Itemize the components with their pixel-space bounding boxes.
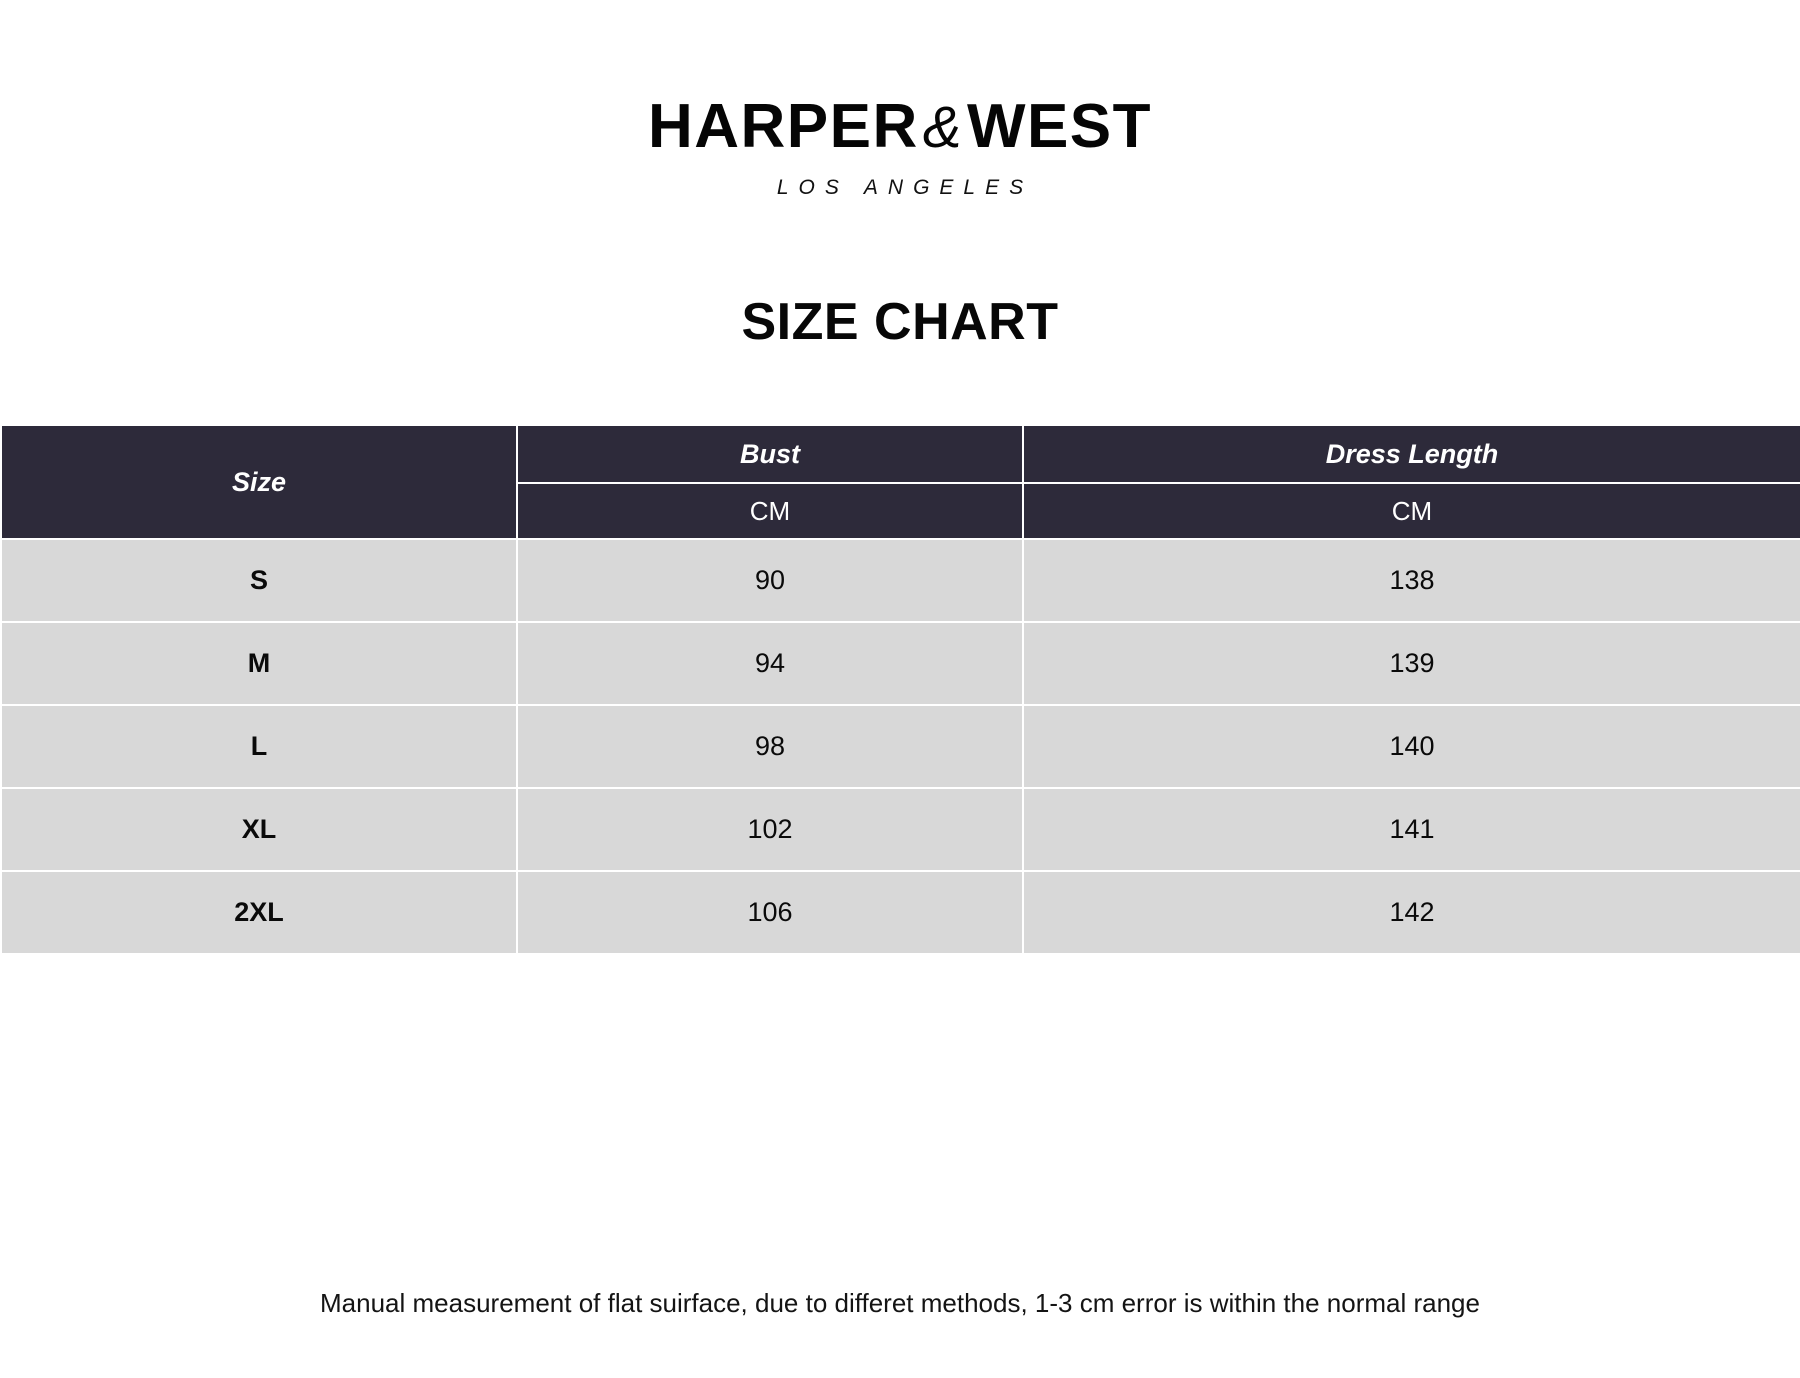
table-header-row-group: Size Bust Dress Length xyxy=(1,425,1800,483)
column-unit-bust: CM xyxy=(517,483,1023,539)
column-unit-dress-length: CM xyxy=(1023,483,1800,539)
cell-dress-length: 138 xyxy=(1023,539,1800,622)
cell-size: XL xyxy=(1,788,517,871)
cell-dress-length: 141 xyxy=(1023,788,1800,871)
cell-bust: 90 xyxy=(517,539,1023,622)
cell-size: S xyxy=(1,539,517,622)
cell-dress-length: 140 xyxy=(1023,705,1800,788)
table-row: 2XL 106 142 xyxy=(1,871,1800,954)
table-row: L 98 140 xyxy=(1,705,1800,788)
cell-bust: 102 xyxy=(517,788,1023,871)
size-chart-table-wrapper: Size Bust Dress Length CM CM S 90 138 M … xyxy=(0,424,1800,955)
cell-size: 2XL xyxy=(1,871,517,954)
cell-bust: 106 xyxy=(517,871,1023,954)
cell-size: M xyxy=(1,622,517,705)
brand-name: HARPER&WEST xyxy=(0,96,1800,158)
cell-bust: 94 xyxy=(517,622,1023,705)
brand-header: HARPER&WEST LOS ANGELES xyxy=(0,0,1800,200)
brand-tagline: LOS ANGELES xyxy=(0,176,1800,200)
page-title: SIZE CHART xyxy=(0,292,1800,352)
size-chart-table: Size Bust Dress Length CM CM S 90 138 M … xyxy=(0,424,1800,955)
measurement-disclaimer: Manual measurement of flat suirface, due… xyxy=(0,1288,1800,1319)
table-body: S 90 138 M 94 139 L 98 140 XL 102 141 2X… xyxy=(1,539,1800,954)
table-row: XL 102 141 xyxy=(1,788,1800,871)
cell-size: L xyxy=(1,705,517,788)
brand-name-part2: WEST xyxy=(967,92,1152,161)
cell-bust: 98 xyxy=(517,705,1023,788)
brand-name-part1: HARPER xyxy=(648,92,919,161)
brand-ampersand: & xyxy=(919,95,967,160)
table-row: M 94 139 xyxy=(1,622,1800,705)
column-header-size: Size xyxy=(1,425,517,539)
column-header-bust: Bust xyxy=(517,425,1023,483)
cell-dress-length: 139 xyxy=(1023,622,1800,705)
table-header: Size Bust Dress Length CM CM xyxy=(1,425,1800,539)
column-header-dress-length: Dress Length xyxy=(1023,425,1800,483)
table-row: S 90 138 xyxy=(1,539,1800,622)
cell-dress-length: 142 xyxy=(1023,871,1800,954)
